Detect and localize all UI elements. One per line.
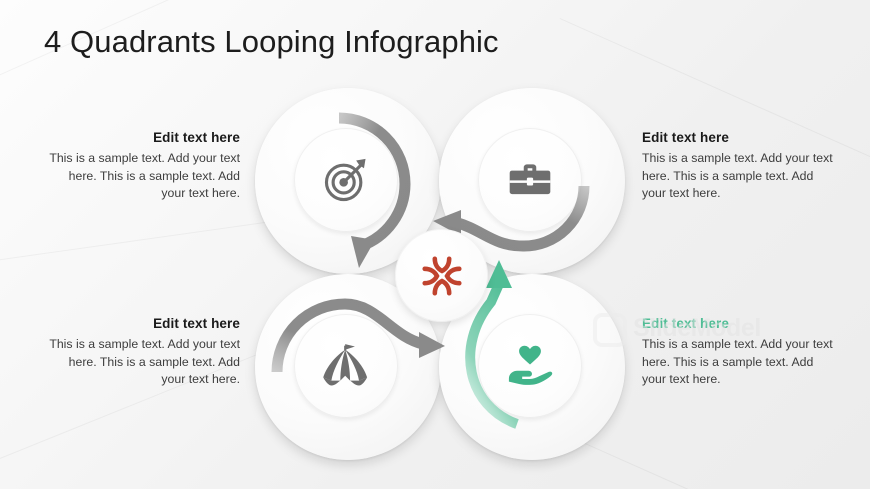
quadrant-text-top-left: Edit text here This is a sample text. Ad… bbox=[44, 130, 240, 203]
page-title: 4 Quadrants Looping Infographic bbox=[44, 24, 499, 60]
looping-diagram: SlideModel bbox=[255, 88, 625, 460]
quadrant-body-bottom-right: This is a sample text. Add your text her… bbox=[642, 336, 838, 389]
icon-circle-top-right[interactable] bbox=[478, 128, 582, 232]
quadrant-body-top-right: This is a sample text. Add your text her… bbox=[642, 150, 838, 203]
quadrant-body-top-left: This is a sample text. Add your text her… bbox=[44, 150, 240, 203]
icon-circle-top-left[interactable] bbox=[294, 128, 398, 232]
quadrant-heading-top-left: Edit text here bbox=[44, 130, 240, 145]
quadrant-heading-bottom-right: Edit text here bbox=[642, 316, 838, 331]
briefcase-icon bbox=[505, 155, 555, 205]
quadrant-text-bottom-left: Edit text here This is a sample text. Ad… bbox=[44, 316, 240, 389]
quadrant-text-bottom-right: Edit text here This is a sample text. Ad… bbox=[642, 316, 838, 389]
circus-tent-icon bbox=[320, 340, 372, 392]
quadrant-heading-bottom-left: Edit text here bbox=[44, 316, 240, 331]
icon-circle-bottom-right[interactable] bbox=[478, 314, 582, 418]
hand-heart-icon bbox=[505, 341, 555, 391]
quadrant-text-top-right: Edit text here This is a sample text. Ad… bbox=[642, 130, 838, 203]
center-hub[interactable] bbox=[395, 229, 488, 322]
quadrant-body-bottom-left: This is a sample text. Add your text her… bbox=[44, 336, 240, 389]
background-hairline bbox=[0, 220, 277, 263]
icon-circle-bottom-left[interactable] bbox=[294, 314, 398, 418]
target-arrow-icon bbox=[321, 155, 371, 205]
slide-canvas: 4 Quadrants Looping Infographic Edit tex… bbox=[0, 0, 870, 489]
four-arcs-cross-icon bbox=[419, 253, 465, 299]
quadrant-heading-top-right: Edit text here bbox=[642, 130, 838, 145]
